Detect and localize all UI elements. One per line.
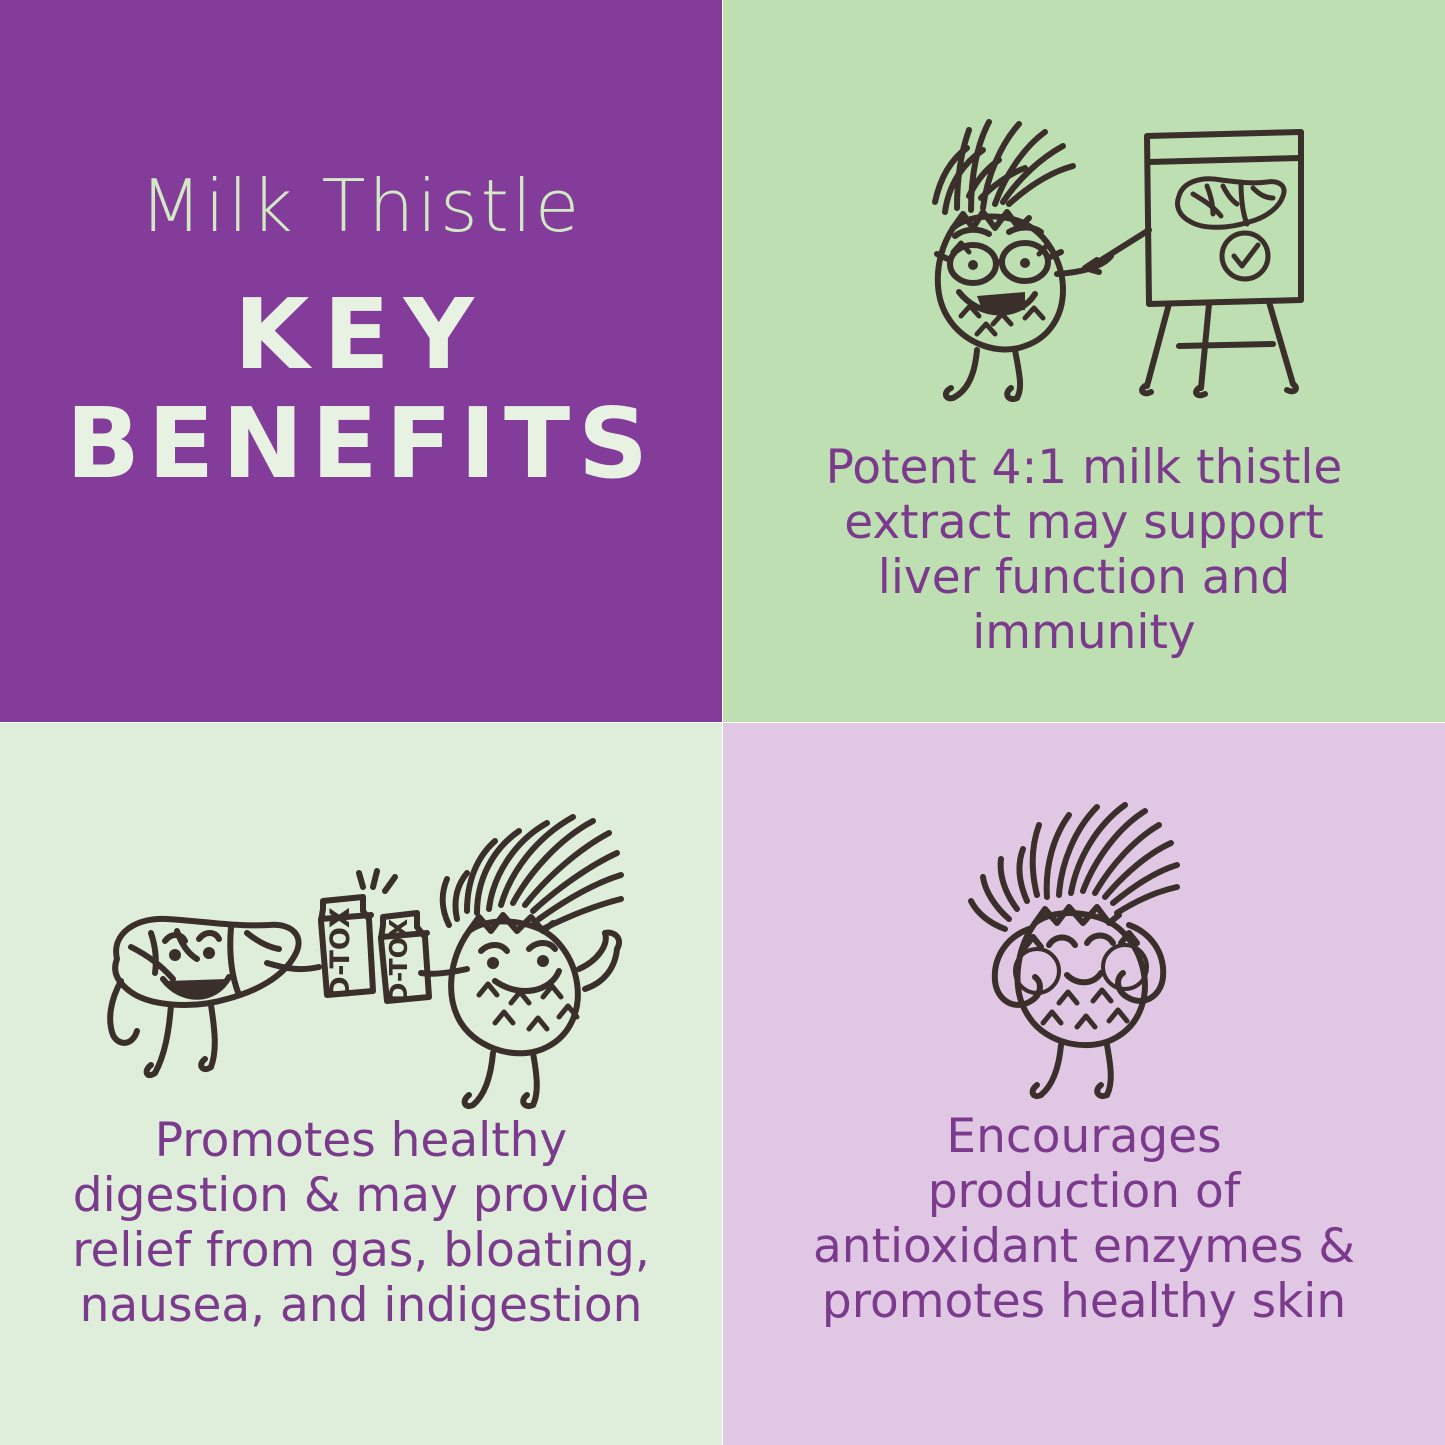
digestion-caption-line-4: nausea, and indigestion bbox=[26, 1278, 696, 1333]
digestion-caption: Promotes healthy digestion & may provide… bbox=[0, 1113, 722, 1333]
digestion-benefit-panel: D-TOX D-TOX bbox=[0, 723, 722, 1445]
skin-caption-line-1: Encourages bbox=[749, 1109, 1419, 1164]
liver-caption: Potent 4:1 milk thistle extract may supp… bbox=[723, 440, 1445, 660]
digestion-caption-line-1: Promotes healthy bbox=[26, 1113, 696, 1168]
title-panel: Milk Thistle KEY BENEFITS bbox=[0, 0, 722, 722]
skin-caption-line-4: promotes healthy skin bbox=[749, 1274, 1419, 1329]
skin-caption: Encourages production of antioxidant enz… bbox=[723, 1109, 1445, 1329]
brand-name: Milk Thistle bbox=[24, 170, 698, 242]
key-benefits-infographic: Milk Thistle KEY BENEFITS bbox=[0, 0, 1445, 1445]
liver-caption-line-1: Potent 4:1 milk thistle bbox=[749, 440, 1419, 495]
liver-pineapple-toast-illustration: D-TOX D-TOX bbox=[0, 783, 722, 1113]
pineapple-presenter-illustration bbox=[723, 78, 1445, 408]
digestion-caption-line-2: digestion & may provide bbox=[26, 1168, 696, 1223]
liver-caption-line-2: extract may support bbox=[749, 495, 1419, 550]
heading-key: KEY bbox=[24, 286, 698, 385]
digestion-caption-line-3: relief from gas, bloating, bbox=[26, 1223, 696, 1278]
liver-benefit-panel: Potent 4:1 milk thistle extract may supp… bbox=[723, 0, 1445, 722]
blushing-pineapple-illustration bbox=[723, 771, 1445, 1101]
skin-benefit-panel: Encourages production of antioxidant enz… bbox=[723, 723, 1445, 1445]
liver-caption-line-3: liver function and bbox=[749, 550, 1419, 605]
skin-caption-line-2: production of bbox=[749, 1164, 1419, 1219]
heading-benefits: BENEFITS bbox=[24, 395, 698, 494]
detox-bottle-label-left: D-TOX bbox=[325, 907, 356, 999]
detox-bottle-label-right: D-TOX bbox=[384, 919, 413, 1004]
skin-caption-line-3: antioxidant enzymes & bbox=[749, 1219, 1419, 1274]
title-stack: Milk Thistle KEY BENEFITS bbox=[0, 170, 722, 494]
liver-caption-line-4: immunity bbox=[749, 605, 1419, 660]
